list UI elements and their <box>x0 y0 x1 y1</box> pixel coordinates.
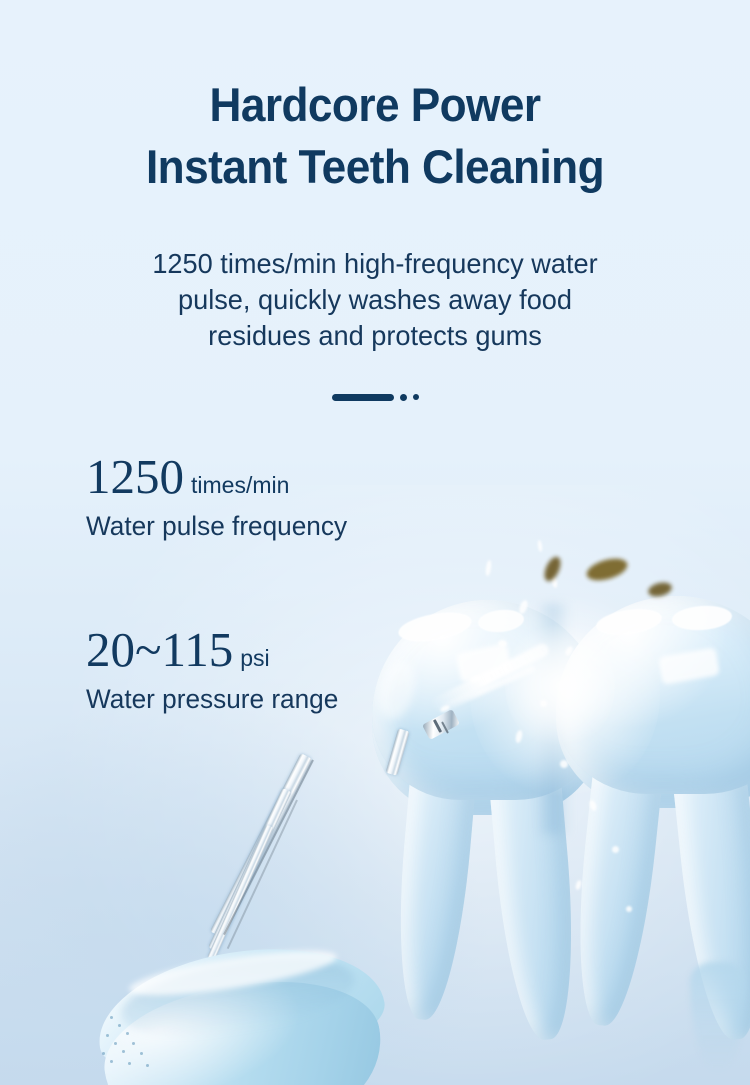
stat-unit: psi <box>240 645 269 671</box>
subheadline-line-2: pulse, quickly washes away food <box>11 282 739 318</box>
droplet <box>498 640 507 647</box>
collar-highlight <box>127 942 339 1004</box>
nozzle-tip <box>422 709 460 740</box>
headline: Hardcore Power Instant Teeth Cleaning <box>23 74 728 198</box>
divider-dot-icon <box>400 394 407 401</box>
droplet <box>485 560 492 577</box>
droplet <box>575 880 583 891</box>
stat-unit: times/min <box>191 472 289 498</box>
stat-water-pulse-frequency: 1250times/min Water pulse frequency <box>86 452 355 542</box>
water-splash-burst <box>470 590 660 800</box>
shaft-edge-line <box>223 760 314 936</box>
droplet <box>439 704 450 713</box>
droplet <box>588 799 597 811</box>
shaft-edge-line <box>227 800 298 949</box>
droplet <box>560 760 568 768</box>
stat-value: 1250 <box>86 449 184 504</box>
divider-dot-icon <box>413 394 419 400</box>
subheadline: 1250 times/min high-frequency water puls… <box>11 246 739 354</box>
headline-line-2: Instant Teeth Cleaning <box>23 136 728 198</box>
nozzle-band <box>433 719 442 733</box>
droplet <box>626 906 632 912</box>
subheadline-line-3: residues and protects gums <box>11 318 739 354</box>
background-glow-right <box>50 485 750 1085</box>
nozzle-shaft <box>210 753 312 937</box>
stat-value-row: 20~115psi <box>86 625 346 674</box>
droplet <box>518 599 529 615</box>
nozzle-shaft <box>208 788 291 952</box>
tooth-gap-shadow <box>536 604 570 834</box>
food-residue-particle <box>584 555 630 585</box>
water-jet-stream <box>429 642 551 713</box>
stat-water-pressure-range: 20~115psi Water pressure range <box>86 625 346 715</box>
food-residue-particle <box>647 580 673 598</box>
decorative-divider <box>0 389 750 405</box>
background-glow-left <box>0 685 500 1085</box>
subheadline-line-1: 1250 times/min high-frequency water <box>11 246 739 282</box>
droplet <box>515 730 524 744</box>
nozzle-band <box>441 721 449 733</box>
droplet <box>469 674 482 683</box>
stat-label: Water pressure range <box>86 684 338 715</box>
product-feature-banner: Hardcore Power Instant Teeth Cleaning 12… <box>0 0 750 1085</box>
stat-value-row: 1250times/min <box>86 452 355 501</box>
water-splash-core <box>505 620 615 750</box>
root-tip-fade <box>690 962 746 1072</box>
droplet <box>612 846 619 853</box>
nozzle-shaft <box>207 824 274 961</box>
droplet <box>540 700 547 707</box>
nozzle-neck <box>386 728 410 776</box>
stat-label: Water pulse frequency <box>86 511 347 542</box>
headline-line-1: Hardcore Power <box>23 74 728 136</box>
stat-value: 20~115 <box>86 622 233 677</box>
droplet <box>564 645 574 657</box>
water-jet-stream <box>435 664 537 714</box>
droplet <box>537 540 543 552</box>
food-residue-particle <box>541 554 563 583</box>
droplet <box>551 576 558 589</box>
divider-bar-icon <box>332 394 394 401</box>
collar-inner-shadow <box>116 944 360 1050</box>
